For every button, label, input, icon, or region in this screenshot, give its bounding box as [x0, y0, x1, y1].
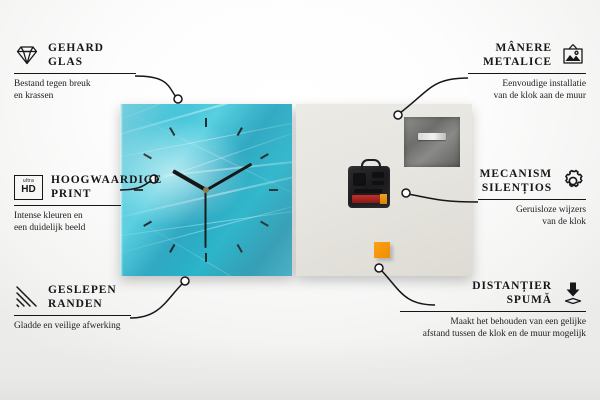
- beveled-edges-icon: [14, 284, 40, 310]
- ultra-hd-large-label: HD: [21, 185, 35, 195]
- feature-header: DISTANȚIER SPUMĂ: [400, 278, 586, 308]
- feature-header: GEHARD GLAS: [14, 40, 136, 70]
- movement-hanger-loop: [361, 159, 381, 171]
- feature-distantier-spuma: DISTANȚIER SPUMĂ Maakt het behouden van …: [400, 278, 586, 340]
- clock-tick: [237, 244, 243, 253]
- feature-description: Maakt het behouden van een gelijke afsta…: [400, 316, 586, 340]
- feature-description: Intense kleuren en een duidelijk beeld: [14, 210, 121, 234]
- feature-description: Eenvoudige installatie van de klok aan d…: [468, 78, 586, 102]
- clock-second-hand: [205, 190, 207, 248]
- feature-rule: [14, 315, 131, 316]
- feature-rule: [468, 73, 586, 74]
- feature-title: MÂNERE METALICE: [483, 41, 552, 69]
- feature-hoogwaardige-print: ultra HD HOOGWAARDIGE PRINT Intense kleu…: [14, 172, 121, 234]
- down-arrow-layer-icon: [560, 280, 586, 306]
- clock-tick: [205, 253, 207, 262]
- clock-tick: [260, 221, 269, 227]
- feature-rule: [14, 73, 136, 74]
- gear-icon: [560, 168, 586, 194]
- feature-title: GEHARD GLAS: [48, 41, 104, 69]
- metal-hanger-plate: [404, 117, 460, 167]
- feature-title: MECANISM SILENȚIOS: [480, 167, 552, 195]
- feature-rule: [400, 311, 586, 312]
- feature-description: Geruisloze wijzers van de klok: [478, 204, 586, 228]
- feature-header: ultra HD HOOGWAARDIGE PRINT: [14, 172, 121, 202]
- feature-gehard-glas: GEHARD GLAS Bestand tegen breuk en krass…: [14, 40, 136, 102]
- clock-center-cap: [203, 187, 209, 193]
- feature-header: GESLEPEN RANDEN: [14, 282, 131, 312]
- feature-manere-metalice: MÂNERE METALICE Eenvoudige installatie v…: [468, 40, 586, 102]
- picture-frame-icon: [560, 42, 586, 68]
- ultra-hd-icon: ultra HD: [14, 175, 43, 200]
- feature-title: HOOGWAARDIGE PRINT: [51, 173, 162, 201]
- clock-tick: [169, 244, 175, 253]
- clock-tick: [205, 118, 207, 127]
- quartz-movement: [348, 166, 390, 208]
- clock-tick: [143, 153, 152, 159]
- clock-tick: [260, 153, 269, 159]
- battery-terminal: [380, 194, 387, 204]
- product-photo: [120, 104, 472, 276]
- feature-rule: [478, 199, 586, 200]
- feature-rule: [14, 205, 121, 206]
- feature-description: Bestand tegen breuk en krassen: [14, 78, 136, 102]
- aa-battery: [352, 195, 382, 203]
- hanger-slot: [418, 133, 446, 140]
- diamond-icon: [14, 42, 40, 68]
- feature-title: GESLEPEN RANDEN: [48, 283, 117, 311]
- feature-header: MÂNERE METALICE: [468, 40, 586, 70]
- feature-description: Gladde en veilige afwerking: [14, 320, 131, 332]
- foam-spacer: [374, 242, 390, 258]
- feature-geslepen-randen: GESLEPEN RANDEN Gladde en veilige afwerk…: [14, 282, 131, 332]
- infographic-canvas: GEHARD GLAS Bestand tegen breuk en krass…: [0, 0, 600, 400]
- clock-tick: [269, 189, 278, 191]
- feature-mecanism-silentios: MECANISM SILENȚIOS Geruisloze wijzers va…: [478, 166, 586, 228]
- feature-title: DISTANȚIER SPUMĂ: [472, 279, 552, 307]
- feature-header: MECANISM SILENȚIOS: [478, 166, 586, 196]
- clock-back-panel: [296, 104, 472, 276]
